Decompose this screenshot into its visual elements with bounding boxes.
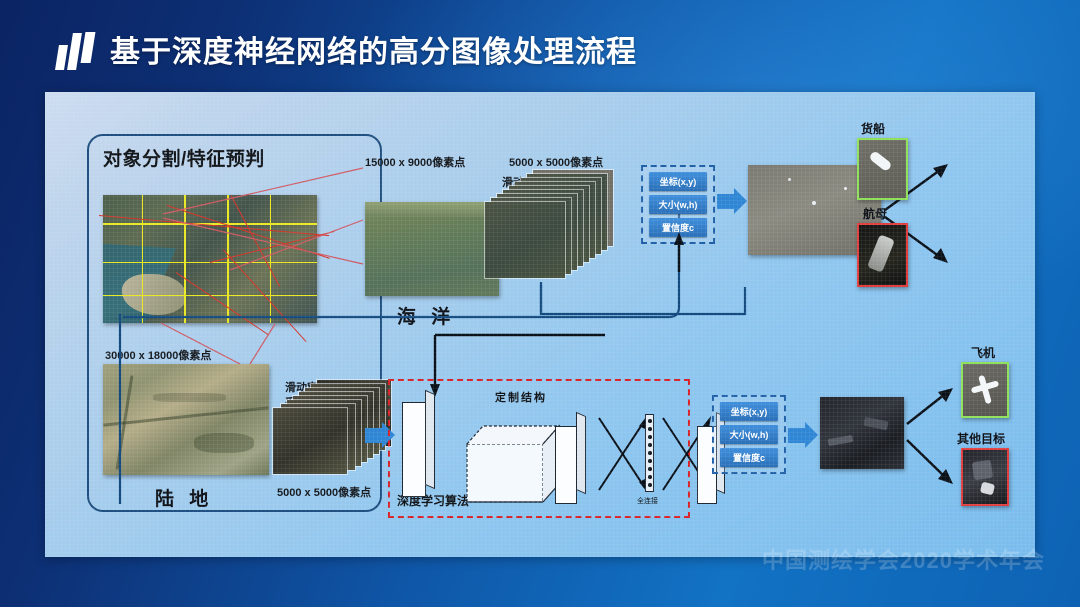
param-top-size: 大小(w,h): [649, 195, 707, 214]
result-airplane-image: [961, 362, 1009, 418]
ocean-tile-stack: [485, 170, 625, 280]
param-bottom-confidence: 置信度c: [720, 448, 778, 467]
land-detection-result-image: [820, 397, 904, 469]
param-top-confidence: 置信度c: [649, 218, 707, 237]
diagram-panel: 对象分割/特征预判: [45, 92, 1035, 557]
page-title: 基于深度神经网络的高分图像处理流程: [110, 27, 637, 71]
source-satellite-image: [103, 195, 317, 323]
land-resolution-label: 30000 x 18000像素点: [105, 347, 211, 363]
param-bottom-size: 大小(w,h): [720, 425, 778, 444]
result-cargo-ship-image: [857, 138, 908, 200]
ocean-source-label: 海 洋: [397, 302, 455, 329]
conference-watermark: 中国测绘学会2020学术年会: [762, 543, 1045, 575]
network-input-slab: [402, 392, 436, 497]
result-cargo-ship-label: 货船: [861, 120, 885, 137]
params-bottom-box: 坐标(x,y) 大小(w,h) 置信度c: [712, 395, 786, 474]
ocean-source-image: [365, 202, 499, 296]
fully-connected-bar: [645, 414, 654, 492]
land-source-label: 陆 地: [155, 484, 213, 511]
shoreline: [365, 202, 499, 217]
land-tile-resolution-label: 5000 x 5000像素点: [277, 484, 371, 500]
fully-connected-label: 全连接: [637, 496, 658, 506]
result-carrier-image: [857, 223, 908, 287]
section-heading: 对象分割/特征预判: [103, 144, 265, 171]
param-bottom-coord: 坐标(x,y): [720, 402, 778, 421]
ocean-resolution-label: 15000 x 9000像素点: [365, 154, 465, 170]
ocean-tile-resolution-label: 5000 x 5000像素点: [509, 154, 603, 170]
bar-chart-logo: [57, 30, 101, 70]
params-top-box: 坐标(x,y) 大小(w,h) 置信度c: [641, 165, 715, 244]
slide-header: 基于深度神经网络的高分图像处理流程: [0, 0, 1080, 92]
slide-root: 基于深度神经网络的高分图像处理流程 对象分割/特征预判: [0, 0, 1080, 607]
result-airplane-label: 飞机: [971, 344, 995, 361]
network-mid-slab: [555, 414, 587, 504]
land-source-image: [103, 364, 269, 475]
result-carrier-label: 航母: [863, 205, 887, 222]
result-other-target-label: 其他目标: [957, 430, 1005, 447]
yellow-grid-overlay: [103, 195, 317, 323]
result-other-target-image: [961, 448, 1009, 506]
param-top-coord: 坐标(x,y): [649, 172, 707, 191]
